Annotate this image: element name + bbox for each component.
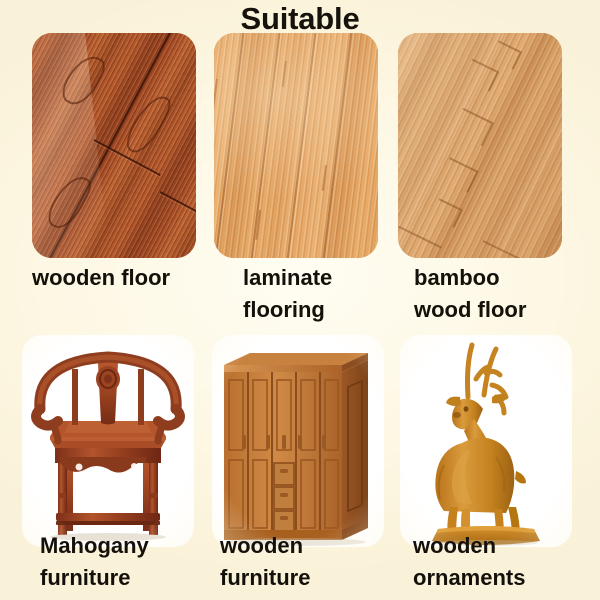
infographic-page: Suitable wooden floor lamin [0, 0, 600, 600]
floor-gloss-highlight [214, 33, 378, 258]
label-line-1: wooden [220, 533, 303, 558]
label-line-1: wooden [413, 533, 496, 558]
label-mahogany-furniture: Mahogany furniture [40, 530, 220, 594]
label-line-1: wooden floor [32, 265, 170, 290]
label-line-1: bamboo [414, 265, 500, 290]
mahogany-armchair-image [22, 335, 194, 547]
label-line-2: furniture [40, 562, 220, 594]
laminate-flooring-image [214, 33, 378, 258]
carved-deer-ornament-image [400, 335, 572, 547]
label-line-2: ornaments [413, 562, 593, 594]
tile-laminate-flooring[interactable] [214, 33, 378, 258]
tile-wooden-floor[interactable] [32, 33, 196, 258]
label-bamboo-wood-floor: bamboo wood floor [414, 262, 594, 326]
label-wooden-ornaments: wooden ornaments [413, 530, 593, 594]
wood-knot-icon [122, 89, 175, 158]
plank-seam [159, 191, 196, 224]
label-line-2: flooring [243, 294, 413, 326]
label-line-2: wood floor [414, 294, 594, 326]
label-laminate-flooring: laminate flooring [243, 262, 413, 326]
label-line-1: laminate [243, 265, 332, 290]
tile-mahogany-furniture[interactable] [22, 335, 194, 547]
tile-bamboo-wood-floor[interactable] [398, 33, 562, 258]
label-wooden-floor: wooden floor [32, 262, 212, 294]
wooden-floor-image [32, 33, 196, 258]
label-line-2: furniture [220, 562, 400, 594]
label-wooden-furniture: wooden furniture [220, 530, 400, 594]
wooden-wardrobe-image [212, 335, 384, 547]
label-line-1: Mahogany [40, 533, 149, 558]
tile-wooden-ornaments[interactable] [400, 335, 572, 547]
bamboo-wood-floor-image [398, 33, 562, 258]
tile-wooden-furniture[interactable] [212, 335, 384, 547]
page-title: Suitable [0, 2, 600, 36]
floor-gloss-highlight [398, 33, 562, 258]
